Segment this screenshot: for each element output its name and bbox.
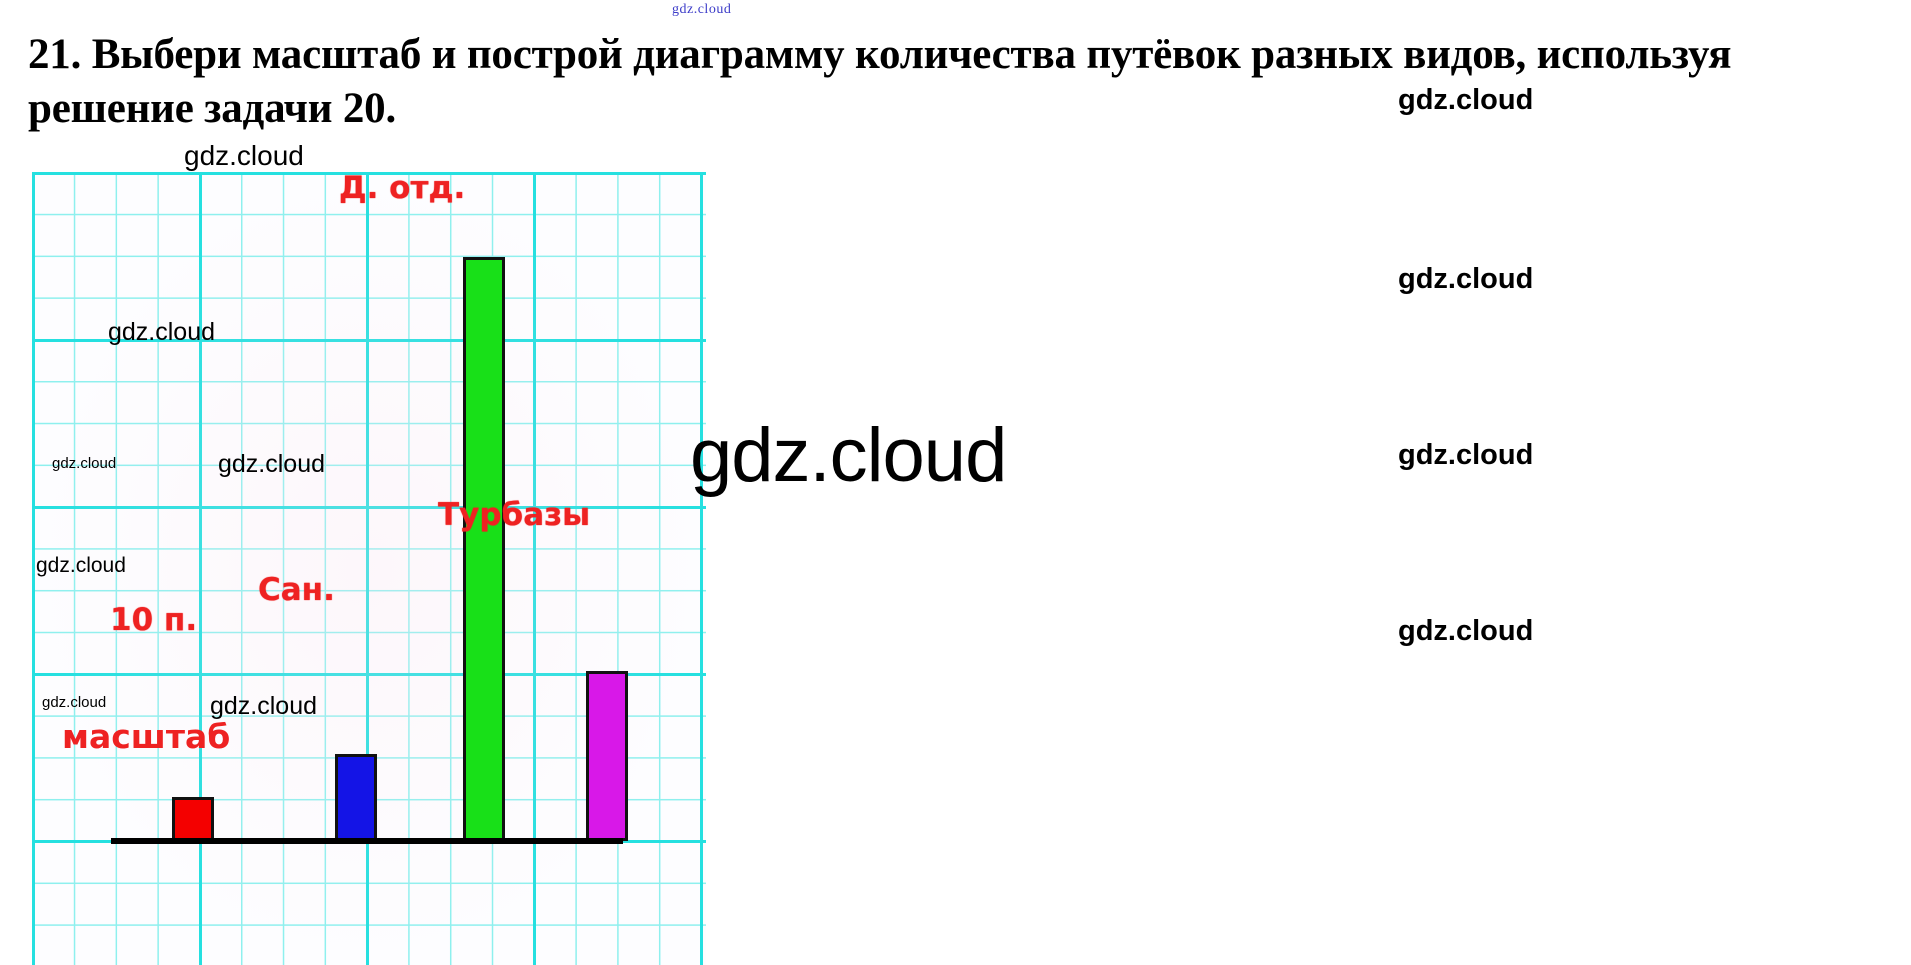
watermark-0: gdz.cloud (184, 140, 304, 172)
watermark-8: gdz.cloud (1398, 263, 1533, 296)
graph-paper-background (32, 172, 706, 965)
paper-tint-overlay (32, 172, 706, 965)
page-title: 21. Выбери масштаб и построй диаграмму к… (28, 28, 1888, 136)
watermark-7: gdz.cloud (1398, 84, 1533, 117)
watermark-6: gdz.cloud (210, 692, 317, 721)
watermark-1: gdz.cloud (108, 318, 215, 347)
watermark-5: gdz.cloud (42, 694, 106, 711)
top-watermark: gdz.cloud (672, 2, 731, 18)
watermark-10: gdz.cloud (1398, 615, 1533, 648)
center-watermark: gdz.cloud (690, 412, 1006, 499)
watermark-9: gdz.cloud (1398, 439, 1533, 472)
watermark-2: gdz.cloud (52, 455, 116, 472)
watermark-4: gdz.cloud (36, 554, 126, 578)
watermark-3: gdz.cloud (218, 450, 325, 479)
